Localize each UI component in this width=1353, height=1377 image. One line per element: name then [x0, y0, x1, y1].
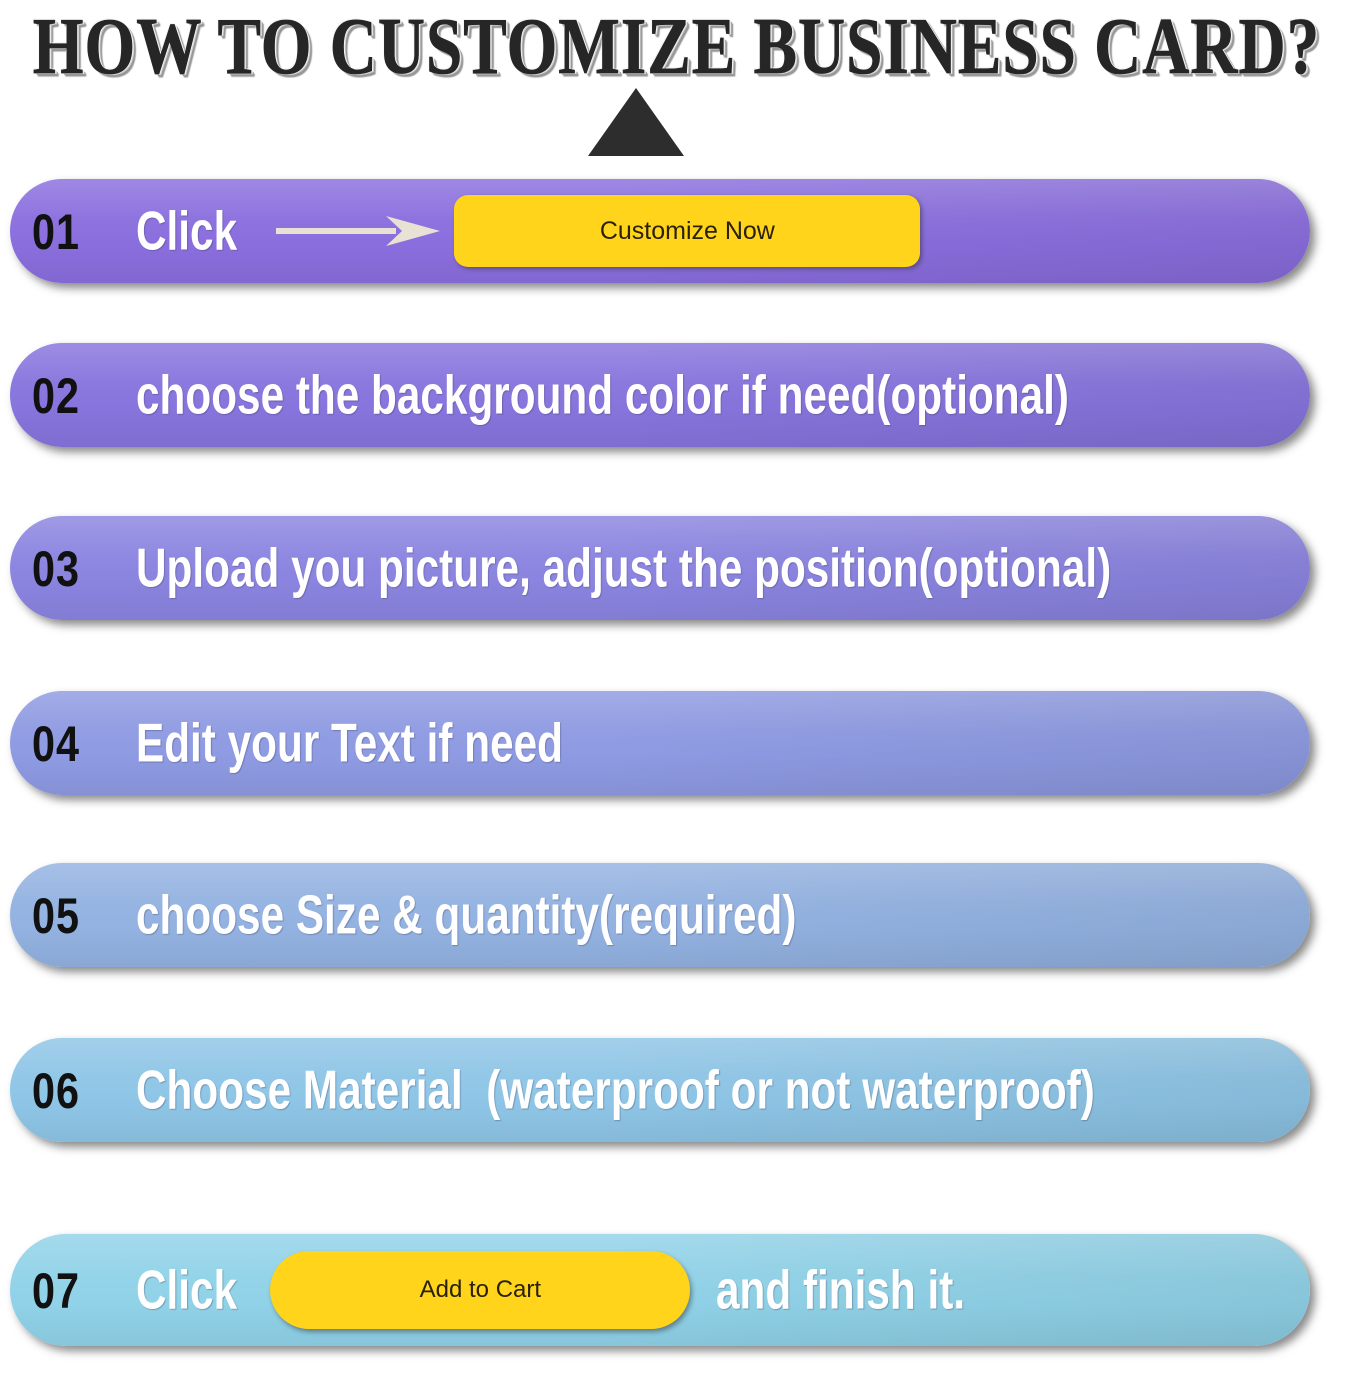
step-label-06: Choose Material (waterproof or not water… [136, 1061, 1095, 1119]
step-row-02[interactable]: 02 choose the background color if need(o… [10, 343, 1310, 447]
step-lead-text-01: Click [136, 202, 237, 260]
step-number-07: 07 [32, 1265, 128, 1315]
add-to-cart-button[interactable]: Add to Cart [270, 1251, 690, 1329]
step-label-02: choose the background color if need(opti… [136, 366, 1069, 424]
step-number-02: 02 [32, 370, 128, 420]
step-row-01[interactable]: 01 Click Customize Now [10, 179, 1310, 283]
step-row-03[interactable]: 03 Upload you picture, adjust the positi… [10, 516, 1310, 620]
triangle-up-icon [588, 88, 684, 156]
step-lead-text-07: Click [136, 1261, 237, 1319]
pointer-container [0, 76, 1353, 156]
step-number-04: 04 [32, 718, 128, 768]
step-row-06[interactable]: 06 Choose Material (waterproof or not wa… [10, 1038, 1310, 1142]
step-content-01: Click Customize Now [136, 195, 1310, 267]
step-row-07[interactable]: 07 Click Add to Cart and finish it. [10, 1234, 1310, 1346]
step-number-06: 06 [32, 1065, 128, 1115]
customize-now-button[interactable]: Customize Now [454, 195, 920, 267]
step-row-04[interactable]: 04 Edit your Text if need [10, 691, 1310, 795]
step-number-01: 01 [32, 206, 128, 256]
arrow-right-icon [274, 214, 442, 248]
step-number-03: 03 [32, 543, 128, 593]
step-number-05: 05 [32, 890, 128, 940]
step-label-03: Upload you picture, adjust the position(… [136, 539, 1111, 597]
header: HOW TO CUSTOMIZE BUSINESS CARD? [0, 0, 1353, 76]
step-trail-text-07: and finish it. [716, 1261, 965, 1319]
step-label-04: Edit your Text if need [136, 714, 563, 772]
step-row-05[interactable]: 05 choose Size & quantity(required) [10, 863, 1310, 967]
step-label-05: choose Size & quantity(required) [136, 886, 796, 944]
step-content-07: Click Add to Cart and finish it. [136, 1251, 1310, 1329]
